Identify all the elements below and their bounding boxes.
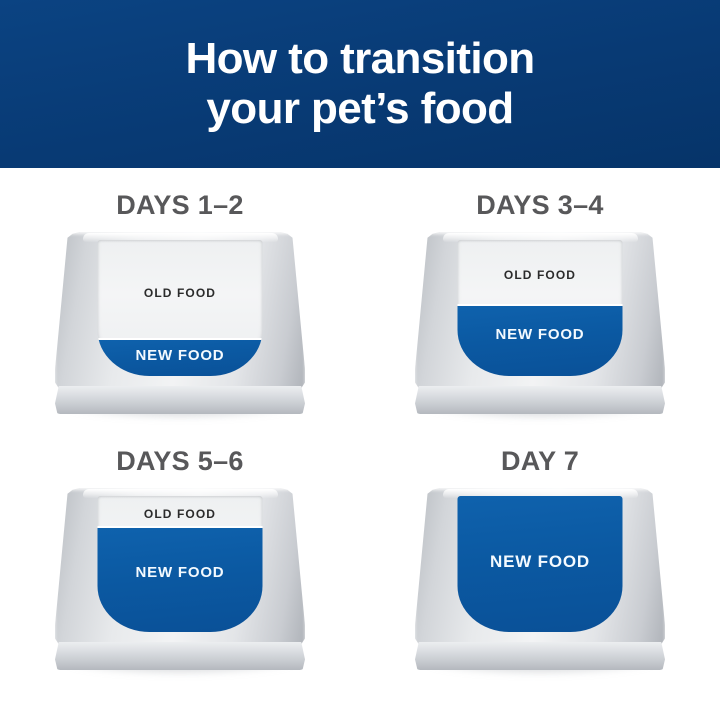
- food-bowl-2: OLD FOOD NEW FOOD: [415, 232, 665, 422]
- step-card-1: DAYS 1–2 OLD FOOD NEW FOOD: [0, 168, 360, 424]
- old-food-label-1: OLD FOOD: [98, 286, 263, 300]
- step-card-2: DAYS 3–4 OLD FOOD NEW FOOD: [360, 168, 720, 424]
- food-bowl-1: OLD FOOD NEW FOOD: [55, 232, 305, 422]
- bowl-base-2: [415, 386, 665, 414]
- bowl-base-4: [415, 642, 665, 670]
- step-title-1: DAYS 1–2: [116, 190, 244, 220]
- bowl-base-1: [55, 386, 305, 414]
- bowl-cavity-1: OLD FOOD NEW FOOD: [98, 240, 263, 376]
- old-food-label-2: OLD FOOD: [458, 268, 623, 282]
- food-bowl-4: OLD FOOD NEW FOOD: [415, 488, 665, 678]
- new-food-label-3: NEW FOOD: [98, 564, 263, 581]
- page-header: How to transition your pet’s food: [0, 0, 720, 168]
- step-card-3: DAYS 5–6 OLD FOOD NEW FOOD: [0, 424, 360, 680]
- bowl-cavity-2: OLD FOOD NEW FOOD: [458, 240, 623, 376]
- steps-grid: DAYS 1–2 OLD FOOD NEW FOOD DAYS 3–4: [0, 168, 720, 720]
- new-food-label-4: NEW FOOD: [458, 552, 623, 572]
- infographic-page: How to transition your pet’s food DAYS 1…: [0, 0, 720, 720]
- bowl-base-3: [55, 642, 305, 670]
- step-title-3: DAYS 5–6: [116, 446, 244, 476]
- page-title-line-1: How to transition: [185, 35, 534, 83]
- bowl-cavity-3: OLD FOOD NEW FOOD: [98, 496, 263, 632]
- step-card-4: DAY 7 OLD FOOD NEW FOOD: [360, 424, 720, 680]
- bowl-cavity-4: OLD FOOD NEW FOOD: [458, 496, 623, 632]
- step-title-2: DAYS 3–4: [476, 190, 604, 220]
- new-food-label-1: NEW FOOD: [98, 347, 263, 364]
- old-food-label-3: OLD FOOD: [98, 507, 263, 521]
- food-bowl-3: OLD FOOD NEW FOOD: [55, 488, 305, 678]
- new-food-label-2: NEW FOOD: [458, 326, 623, 343]
- step-title-4: DAY 7: [501, 446, 579, 476]
- page-title-line-2: your pet’s food: [206, 85, 513, 133]
